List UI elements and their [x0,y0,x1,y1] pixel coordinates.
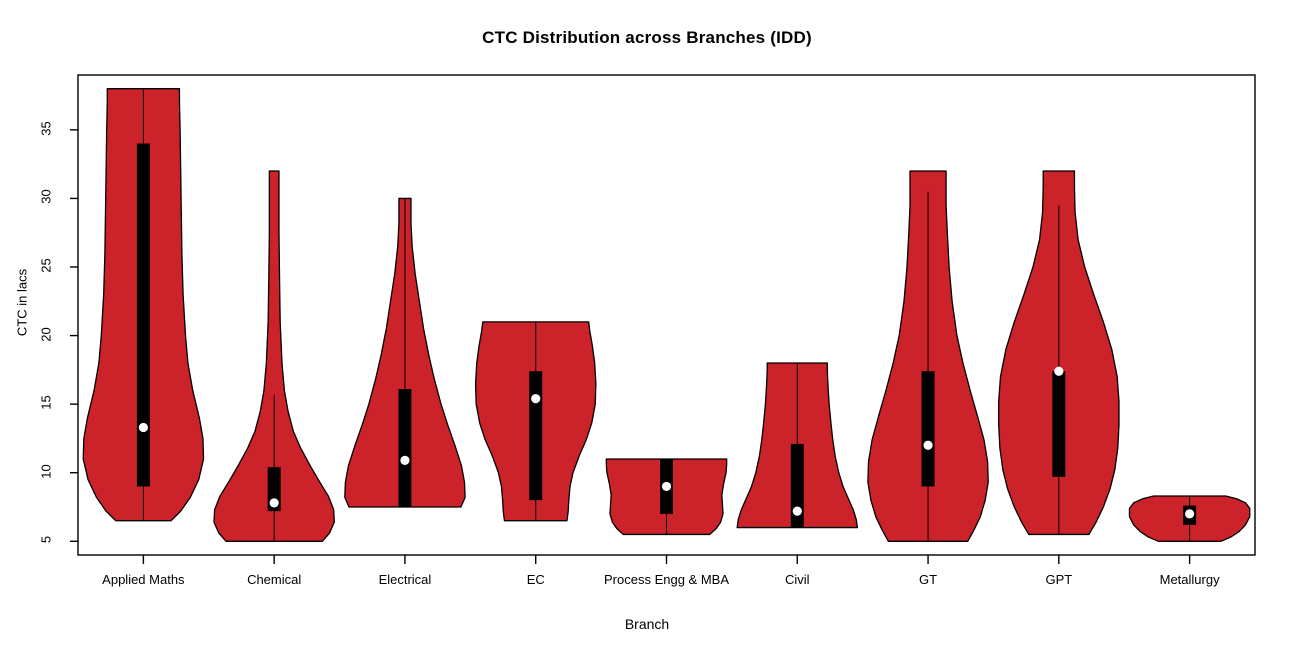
y-tick-label: 35 [39,108,54,148]
median-marker [400,456,409,465]
plot-canvas [0,0,1294,653]
violin-civil[interactable] [737,363,857,528]
median-marker [662,482,671,491]
violin-gt[interactable] [868,171,988,541]
y-tick-label: 25 [39,246,54,286]
median-marker [531,394,540,403]
iqr-box [922,371,935,486]
x-tick-label: Metallurgy [1110,572,1270,587]
iqr-box [1052,371,1065,477]
y-tick-label: 20 [39,314,54,354]
median-marker [1054,367,1063,376]
violin-metallurgy[interactable] [1129,496,1249,541]
y-tick-label: 10 [39,451,54,491]
violin-electrical[interactable] [345,198,465,507]
median-marker [923,441,932,450]
median-marker [270,498,279,507]
violin-gpt[interactable] [999,171,1119,534]
median-marker [1185,509,1194,518]
x-axis-label: Branch [0,616,1294,632]
y-axis-label: CTC in lacs [15,233,30,373]
y-tick-label: 5 [39,520,54,560]
median-marker [793,507,802,516]
y-tick-label: 15 [39,383,54,423]
iqr-box [137,144,150,487]
iqr-box [529,371,542,500]
violin-ec[interactable] [476,322,596,521]
violin-applied-maths[interactable] [83,89,203,521]
median-marker [139,423,148,432]
violin-chemical[interactable] [214,171,334,541]
iqr-box [398,389,411,507]
violin-process-engg-mba[interactable] [606,459,726,534]
y-tick-label: 30 [39,177,54,217]
violin-plot: CTC in lacs Branch 5101520253035 Applied… [0,0,1294,653]
